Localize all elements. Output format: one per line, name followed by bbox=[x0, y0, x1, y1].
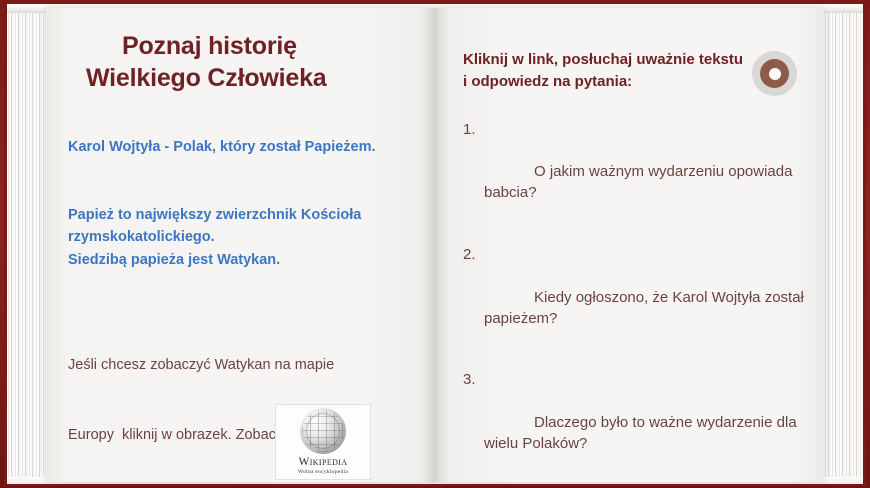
wikipedia-link-thumbnail[interactable]: Wikipedia Wolna encyklopedia bbox=[275, 404, 371, 480]
page-title-line-1: Poznaj historię bbox=[68, 30, 418, 62]
questions-header-line-2: i odpowiedz na pytania: bbox=[463, 73, 632, 90]
page-right: Kliknij w link, posłuchaj uważnie tekstu… bbox=[435, 8, 824, 482]
questions-header-line-1: Kliknij w link, posłuchaj uważnie tekstu bbox=[463, 51, 743, 68]
wikipedia-globe-icon bbox=[300, 408, 346, 454]
question-text: Dlaczego było to ważne wydarzenie dla wi… bbox=[484, 414, 797, 452]
wikipedia-wordmark: Wikipedia bbox=[298, 456, 347, 468]
instruction-line-1: Jeśli chcesz zobaczyć Watykan na mapie bbox=[68, 354, 418, 377]
blue-paragraph-line-2: rzymskokatolickiego. bbox=[68, 226, 418, 248]
lead-sentence: Karol Wojtyła - Polak, który został Papi… bbox=[68, 94, 418, 158]
question-text: Kiedy ogłoszono, że Karol Wojtyła został… bbox=[484, 289, 804, 327]
questions-header: Kliknij w link, posłuchaj uważnie tekstu… bbox=[463, 8, 783, 93]
question-text: O jakim ważnym wydarzeniu opowiada babci… bbox=[484, 163, 792, 201]
question-number: 3. bbox=[463, 369, 476, 390]
blue-paragraph: Papież to największy zwierzchnik Kościoł… bbox=[68, 158, 418, 271]
question-number: 2. bbox=[463, 244, 476, 265]
wikipedia-tagline: Wolna encyklopedia bbox=[298, 469, 348, 475]
question-item: 3. Dlaczego było to ważne wydarzenie dla… bbox=[463, 369, 814, 475]
audio-disc-icon[interactable] bbox=[752, 51, 797, 96]
audio-disc-ring bbox=[760, 59, 789, 88]
audio-disc-hole bbox=[769, 68, 781, 80]
page-title: Poznaj historię Wielkiego Człowieka bbox=[68, 8, 418, 94]
open-pages: Poznaj historię Wielkiego Człowieka Karo… bbox=[46, 8, 824, 482]
right-page-content: Kliknij w link, posłuchaj uważnie tekstu… bbox=[463, 8, 815, 482]
question-number: 1. bbox=[463, 119, 476, 140]
page-title-line-2: Wielkiego Człowieka bbox=[68, 62, 418, 94]
questions-list: 1. O jakim ważnym wydarzeniu opowiada ba… bbox=[463, 93, 815, 488]
blue-paragraph-line-1: Papież to największy zwierzchnik Kościoł… bbox=[68, 204, 418, 226]
question-item: 2. Kiedy ogłoszono, że Karol Wojtyła zos… bbox=[463, 244, 814, 350]
book-spread: Poznaj historię Wielkiego Człowieka Karo… bbox=[0, 0, 870, 488]
question-item: 1. O jakim ważnym wydarzeniu opowiada ba… bbox=[463, 119, 814, 225]
left-page-content: Poznaj historię Wielkiego Człowieka Karo… bbox=[68, 8, 418, 482]
page-left: Poznaj historię Wielkiego Człowieka Karo… bbox=[46, 8, 435, 482]
blue-paragraph-line-3: Siedzibą papieża jest Watykan. bbox=[68, 249, 418, 271]
